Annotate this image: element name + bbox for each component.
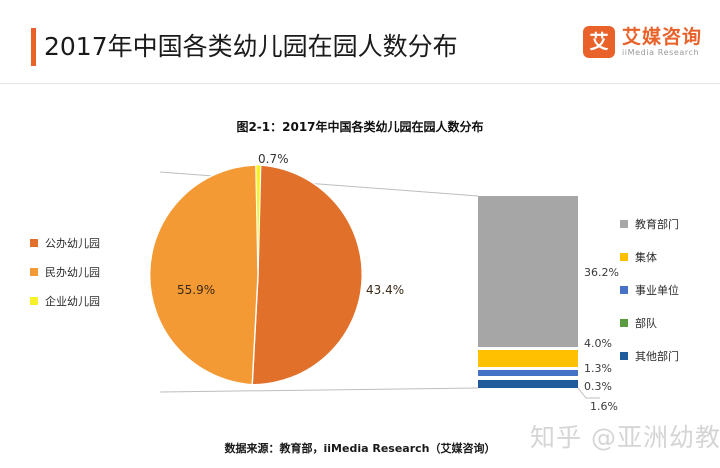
legend-item-other[interactable]: 其他部门	[620, 339, 679, 372]
header-divider	[0, 83, 720, 84]
legend-swatch-icon	[620, 319, 628, 327]
legend-breakout: 教育部门 集体 事业单位 部队 其他部门	[620, 207, 679, 372]
legend-swatch-icon	[30, 268, 38, 276]
page-header: 2017年中国各类幼儿园在园人数分布 艾 艾媒咨询 iiMedia Resear…	[0, 0, 720, 84]
legend-label-army: 部队	[635, 315, 657, 331]
pie-label-private: 55.9%	[177, 283, 215, 297]
bar-label-institution: 1.3%	[584, 362, 612, 375]
legend-item-private[interactable]: 民办幼儿园	[30, 257, 100, 286]
pie-slice-public	[252, 165, 362, 385]
brand-logo: 艾 艾媒咨询 iiMedia Research	[583, 26, 702, 58]
logo-name-en: iiMedia Research	[622, 47, 702, 58]
legend-label-private: 民办幼儿园	[45, 264, 100, 280]
bar-segment-collective	[478, 350, 578, 367]
legend-swatch-icon	[620, 286, 628, 294]
bar-label-other: 1.6%	[590, 400, 618, 413]
legend-swatch-icon	[30, 297, 38, 305]
legend-label-other: 其他部门	[635, 348, 679, 364]
legend-label-institution: 事业单位	[635, 282, 679, 298]
legend-item-public[interactable]: 公办幼儿园	[30, 228, 100, 257]
legend-swatch-icon	[620, 352, 628, 360]
stacked-bar-chart	[478, 196, 578, 388]
legend-label-collective: 集体	[635, 249, 657, 265]
pie-label-public: 43.4%	[366, 283, 404, 297]
legend-swatch-icon	[620, 220, 628, 228]
legend-swatch-icon	[30, 239, 38, 247]
legend-label-education: 教育部门	[635, 216, 679, 232]
legend-item-army[interactable]: 部队	[620, 306, 679, 339]
legend-swatch-icon	[620, 253, 628, 261]
pie-chart-svg	[148, 165, 368, 385]
title-accent-bar	[31, 28, 36, 66]
pie-label-enterprise: 0.7%	[258, 152, 289, 166]
legend-pie: 公办幼儿园 民办幼儿园 企业幼儿园	[30, 228, 100, 315]
logo-name-cn: 艾媒咨询	[622, 27, 702, 47]
data-source-note: 数据来源：教育部，iiMedia Research（艾媒咨询）	[0, 440, 720, 456]
bar-label-education: 36.2%	[584, 266, 619, 279]
infographic-page: 2017年中国各类幼儿园在园人数分布 艾 艾媒咨询 iiMedia Resear…	[0, 0, 720, 468]
legend-label-enterprise: 企业幼儿园	[45, 293, 100, 309]
bar-segment-education	[478, 196, 578, 347]
page-title: 2017年中国各类幼儿园在园人数分布	[44, 28, 458, 66]
legend-label-public: 公办幼儿园	[45, 235, 100, 251]
legend-item-institution[interactable]: 事业单位	[620, 273, 679, 306]
legend-item-collective[interactable]: 集体	[620, 240, 679, 273]
bar-label-army: 0.3%	[584, 380, 612, 393]
chart-subtitle: 图2-1：2017年中国各类幼儿园在园人数分布	[0, 118, 720, 135]
bar-segment-other	[478, 380, 578, 388]
logo-text: 艾媒咨询 iiMedia Research	[622, 27, 702, 58]
bar-label-collective: 4.0%	[584, 337, 612, 350]
chart-area: 0.7% 55.9% 43.4% 公办幼儿园 民办幼儿园 企业幼儿园	[0, 140, 720, 430]
logo-mark-icon: 艾	[583, 26, 615, 58]
legend-item-education[interactable]: 教育部门	[620, 207, 679, 240]
pie-chart	[148, 165, 368, 385]
legend-item-enterprise[interactable]: 企业幼儿园	[30, 286, 100, 315]
pie-slice-private	[150, 165, 258, 385]
